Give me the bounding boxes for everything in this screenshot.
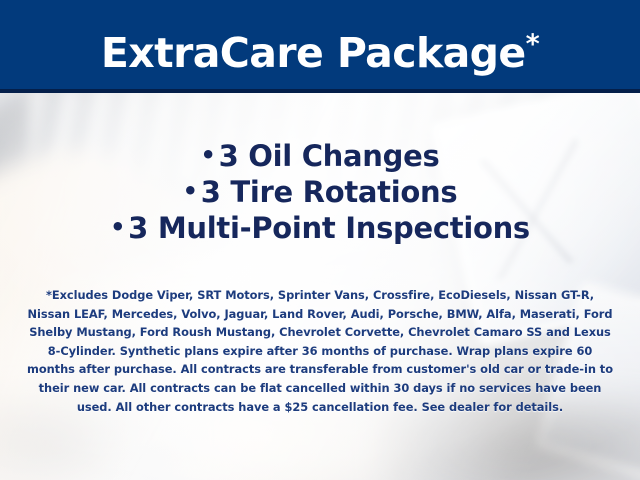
page-title-text: ExtraCare Package bbox=[101, 29, 526, 77]
benefit-item-label: 3 Tire Rotations bbox=[201, 175, 458, 209]
bullet-dot-icon: • bbox=[201, 141, 216, 169]
benefit-item: •3 Multi-Point Inspections bbox=[0, 210, 640, 246]
benefit-item: •3 Oil Changes bbox=[0, 138, 640, 174]
page-title: ExtraCare Package* bbox=[0, 21, 640, 77]
benefits-list: •3 Oil Changes •3 Tire Rotations •3 Mult… bbox=[0, 138, 640, 246]
bullet-dot-icon: • bbox=[110, 213, 125, 241]
benefit-item: •3 Tire Rotations bbox=[0, 174, 640, 210]
page-title-asterisk: * bbox=[526, 29, 540, 60]
benefit-item-label: 3 Multi-Point Inspections bbox=[128, 211, 530, 245]
disclaimer-text: *Excludes Dodge Viper, SRT Motors, Sprin… bbox=[26, 286, 614, 416]
extracare-package-ad: ExtraCare Package* •3 Oil Changes •3 Tir… bbox=[0, 0, 640, 480]
benefit-item-label: 3 Oil Changes bbox=[219, 139, 440, 173]
bullet-dot-icon: • bbox=[183, 177, 198, 205]
header-underline-rule bbox=[0, 89, 640, 93]
